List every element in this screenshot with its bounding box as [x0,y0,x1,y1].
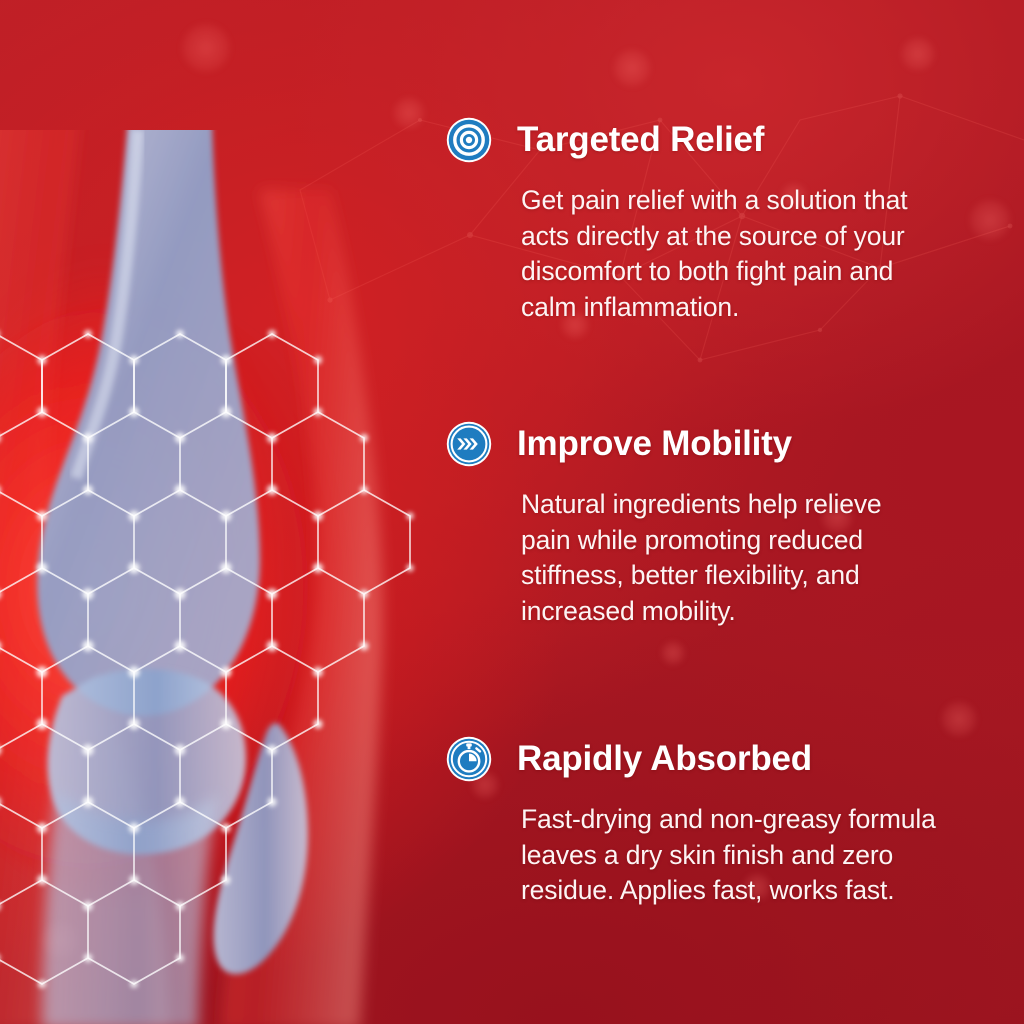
feature-description-line: residue. Applies fast, works fast. [521,873,991,909]
features-column: Targeted Relief Get pain relief with a s… [446,0,1024,1024]
feature-heading-row: Improve Mobility [446,421,991,467]
feature-description-line: stiffness, better flexibility, and [521,558,991,594]
feature-description: Get pain relief with a solution that act… [521,183,991,325]
feature-description-line: acts directly at the source of your [521,219,991,255]
feature-description-line: pain while promoting reduced [521,523,991,559]
feature-heading-row: Targeted Relief [446,117,991,163]
feature-heading-row: Rapidly Absorbed [446,736,991,782]
feature-description-line: leaves a dry skin finish and zero [521,838,991,874]
feature-description: Natural ingredients help relieve pain wh… [521,487,991,629]
infographic-canvas: Targeted Relief Get pain relief with a s… [0,0,1024,1024]
feature-title: Improve Mobility [517,421,792,467]
feature-description-line: discomfort to both fight pain and [521,254,991,290]
feature-title: Rapidly Absorbed [517,736,812,782]
triple-chevron-right-icon [446,421,492,467]
feature-description-line: calm inflammation. [521,290,991,326]
feature-block-improve-mobility: Improve Mobility Natural ingredients hel… [446,421,991,629]
feature-description-line: Natural ingredients help relieve [521,487,991,523]
target-bullseye-icon [446,117,492,163]
feature-block-rapidly-absorbed: Rapidly Absorbed Fast-drying and non-gre… [446,736,991,909]
feature-title: Targeted Relief [517,117,764,163]
feature-description-line: increased mobility. [521,594,991,630]
knee-joint-illustration [0,130,450,1024]
feature-description: Fast-drying and non-greasy formula leave… [521,802,991,909]
stopwatch-icon [446,736,492,782]
feature-description-line: Fast-drying and non-greasy formula [521,802,991,838]
feature-description-line: Get pain relief with a solution that [521,183,991,219]
feature-block-targeted-relief: Targeted Relief Get pain relief with a s… [446,117,991,325]
